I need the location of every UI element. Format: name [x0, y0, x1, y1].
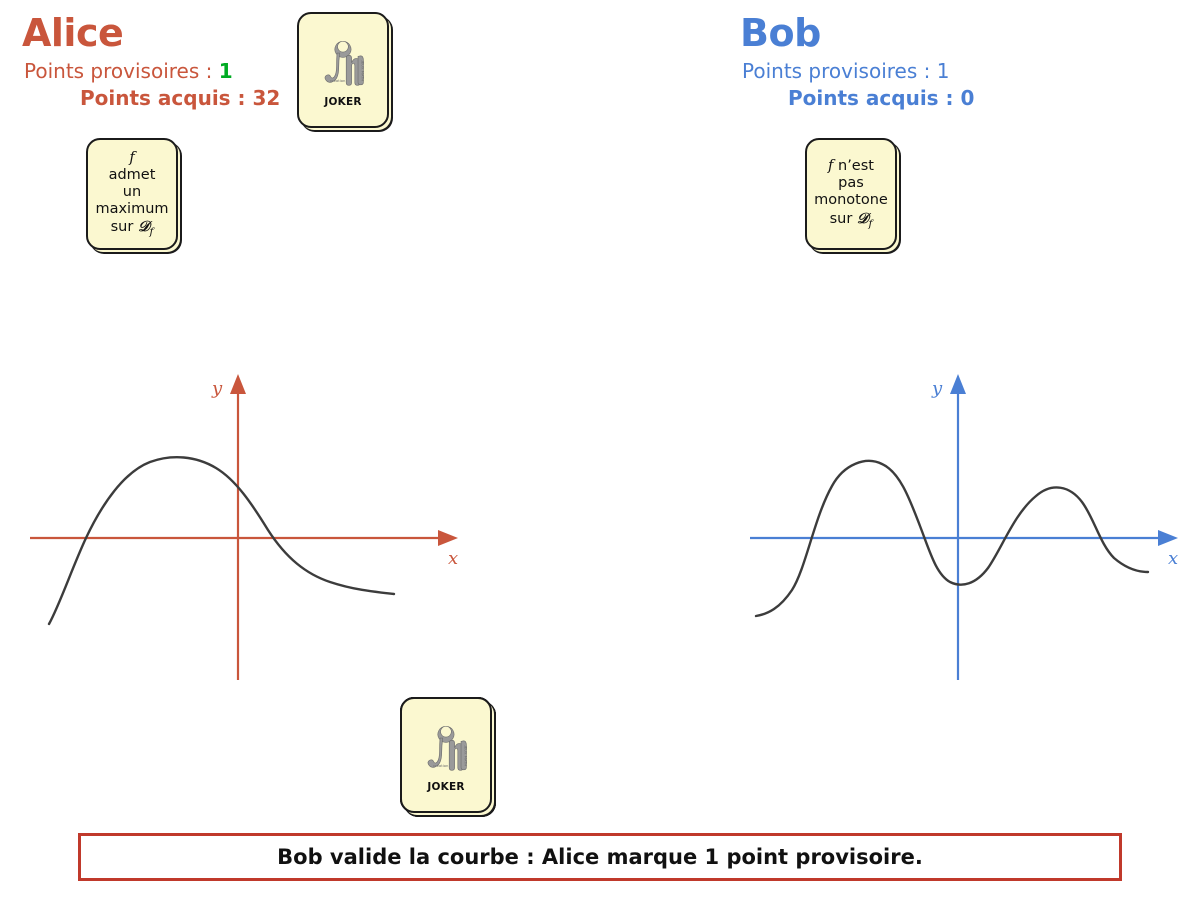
card-face[interactable]: JEUX MATH création JOKER [297, 12, 389, 128]
bob-acquired-label: Points acquis : [788, 86, 954, 110]
alice-acquired-label: Points acquis : [80, 86, 246, 110]
svg-text:création: création [330, 79, 346, 83]
jm-logo-gray-icon: JEUX MATH création [316, 37, 370, 95]
bob-provisional-label: Points provisoires : [742, 59, 930, 83]
status-message-text: Bob valide la courbe : Alice marque 1 po… [277, 845, 923, 869]
bob-provisional-score: Points provisoires : 1 [740, 58, 1010, 85]
bob-proposition-card[interactable]: f n’estpasmonotonesur 𝒟f [805, 138, 897, 250]
x-axis-label: x [1168, 548, 1178, 569]
svg-text:JEUX MATH: JEUX MATH [463, 745, 467, 767]
player-name-bob: Bob [740, 14, 1010, 52]
alice-provisional-value: 1 [219, 59, 233, 83]
hand-card-joker[interactable]: JEUX MATH création JOKER [400, 697, 492, 813]
svg-text:JEUX MATH: JEUX MATH [360, 60, 364, 82]
card-face[interactable]: f n’estpasmonotonesur 𝒟f [805, 138, 897, 250]
x-axis-arrow-icon [438, 530, 458, 546]
card-face[interactable]: fadmetunmaximumsur 𝒟f [86, 138, 178, 250]
jm-logo-gray-icon: JEUX MATH création [419, 722, 473, 780]
player-name-alice: Alice [22, 14, 292, 52]
alice-proposition-text: fadmetunmaximumsur 𝒟f [95, 150, 168, 239]
alice-provisional-score: Points provisoires : 1 [22, 58, 292, 85]
bob-provisional-value: 1 [937, 59, 950, 83]
x-axis-label: x [448, 548, 458, 569]
y-axis-label: y [931, 378, 943, 399]
y-axis-arrow-icon [950, 374, 966, 394]
y-axis-arrow-icon [230, 374, 246, 394]
y-axis-label: y [211, 378, 223, 399]
status-message-bar: Bob valide la courbe : Alice marque 1 po… [78, 833, 1122, 881]
graph-bob: y x [740, 368, 1190, 688]
alice-acquired-score: Points acquis : 32 [22, 85, 292, 112]
bob-proposition-text: f n’estpasmonotonesur 𝒟f [814, 158, 888, 230]
bob-acquired-score: Points acquis : 0 [740, 85, 1010, 112]
x-axis-arrow-icon [1158, 530, 1178, 546]
curve-alice [49, 457, 394, 624]
card-face[interactable]: JEUX MATH création JOKER [400, 697, 492, 813]
player-panel-alice: Alice Points provisoires : 1 Points acqu… [22, 14, 292, 112]
alice-provisional-label: Points provisoires : [24, 59, 212, 83]
card-label: JOKER [425, 782, 466, 794]
svg-text:création: création [433, 764, 449, 768]
player-panel-bob: Bob Points provisoires : 1 Points acquis… [740, 14, 1010, 112]
bob-acquired-value: 0 [961, 86, 975, 110]
card-label: JOKER [322, 97, 363, 109]
graph-alice: y x [20, 368, 470, 688]
alice-proposition-card[interactable]: fadmetunmaximumsur 𝒟f [86, 138, 178, 250]
alice-played-card[interactable]: JEUX MATH création JOKER [297, 12, 389, 128]
alice-acquired-value: 32 [253, 86, 281, 110]
